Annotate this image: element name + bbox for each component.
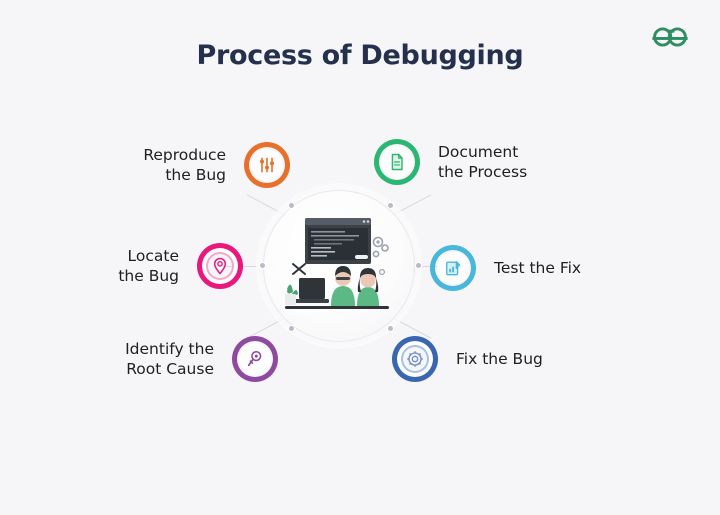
step-fix-ring[interactable] <box>392 336 438 382</box>
connector-dot-test <box>415 262 422 269</box>
step-locate-ring[interactable] <box>197 243 243 289</box>
step-document-label: Document the Process <box>438 142 527 183</box>
step-document-the-process[interactable]: Document the Process <box>374 139 634 185</box>
magnifier-key-icon <box>245 349 265 369</box>
page-title: Process of Debugging <box>0 40 720 71</box>
connector-dot-fix <box>387 325 394 332</box>
step-test-label: Test the Fix <box>494 258 581 278</box>
connector-line-reproduce <box>247 194 285 215</box>
step-fix-label: Fix the Bug <box>456 349 543 369</box>
step-fix-the-bug[interactable]: Fix the Bug <box>392 336 652 382</box>
step-document-ring[interactable] <box>374 139 420 185</box>
gear-settings-icon <box>405 349 425 369</box>
step-test-the-fix[interactable]: Test the Fix <box>430 245 690 291</box>
document-file-icon <box>387 152 407 172</box>
location-pin-icon <box>210 256 230 276</box>
center-hub <box>263 190 415 342</box>
connector-dot-root-cause <box>288 325 295 332</box>
equalizer-sliders-icon <box>257 155 277 175</box>
geeksforgeeks-logo <box>648 22 692 52</box>
connector-dot-document <box>387 202 394 209</box>
debugging-illustration <box>281 214 397 318</box>
step-test-ring[interactable] <box>430 245 476 291</box>
step-reproduce-label: Reproduce the Bug <box>143 145 226 186</box>
step-locate-the-bug[interactable]: Locate the Bug <box>40 243 243 289</box>
connector-line-document <box>394 194 432 215</box>
chart-report-icon <box>443 258 463 278</box>
connector-dot-locate <box>259 262 266 269</box>
step-identify-the-root-cause[interactable]: Identify the Root Cause <box>40 336 278 382</box>
step-reproduce-ring[interactable] <box>244 142 290 188</box>
step-root-cause-label: Identify the Root Cause <box>125 339 214 380</box>
step-root-cause-ring[interactable] <box>232 336 278 382</box>
connector-dot-reproduce <box>288 202 295 209</box>
step-locate-label: Locate the Bug <box>118 246 179 287</box>
diagram-canvas: Process of Debugging <box>0 0 720 515</box>
step-reproduce-the-bug[interactable]: Reproduce the Bug <box>40 142 290 188</box>
